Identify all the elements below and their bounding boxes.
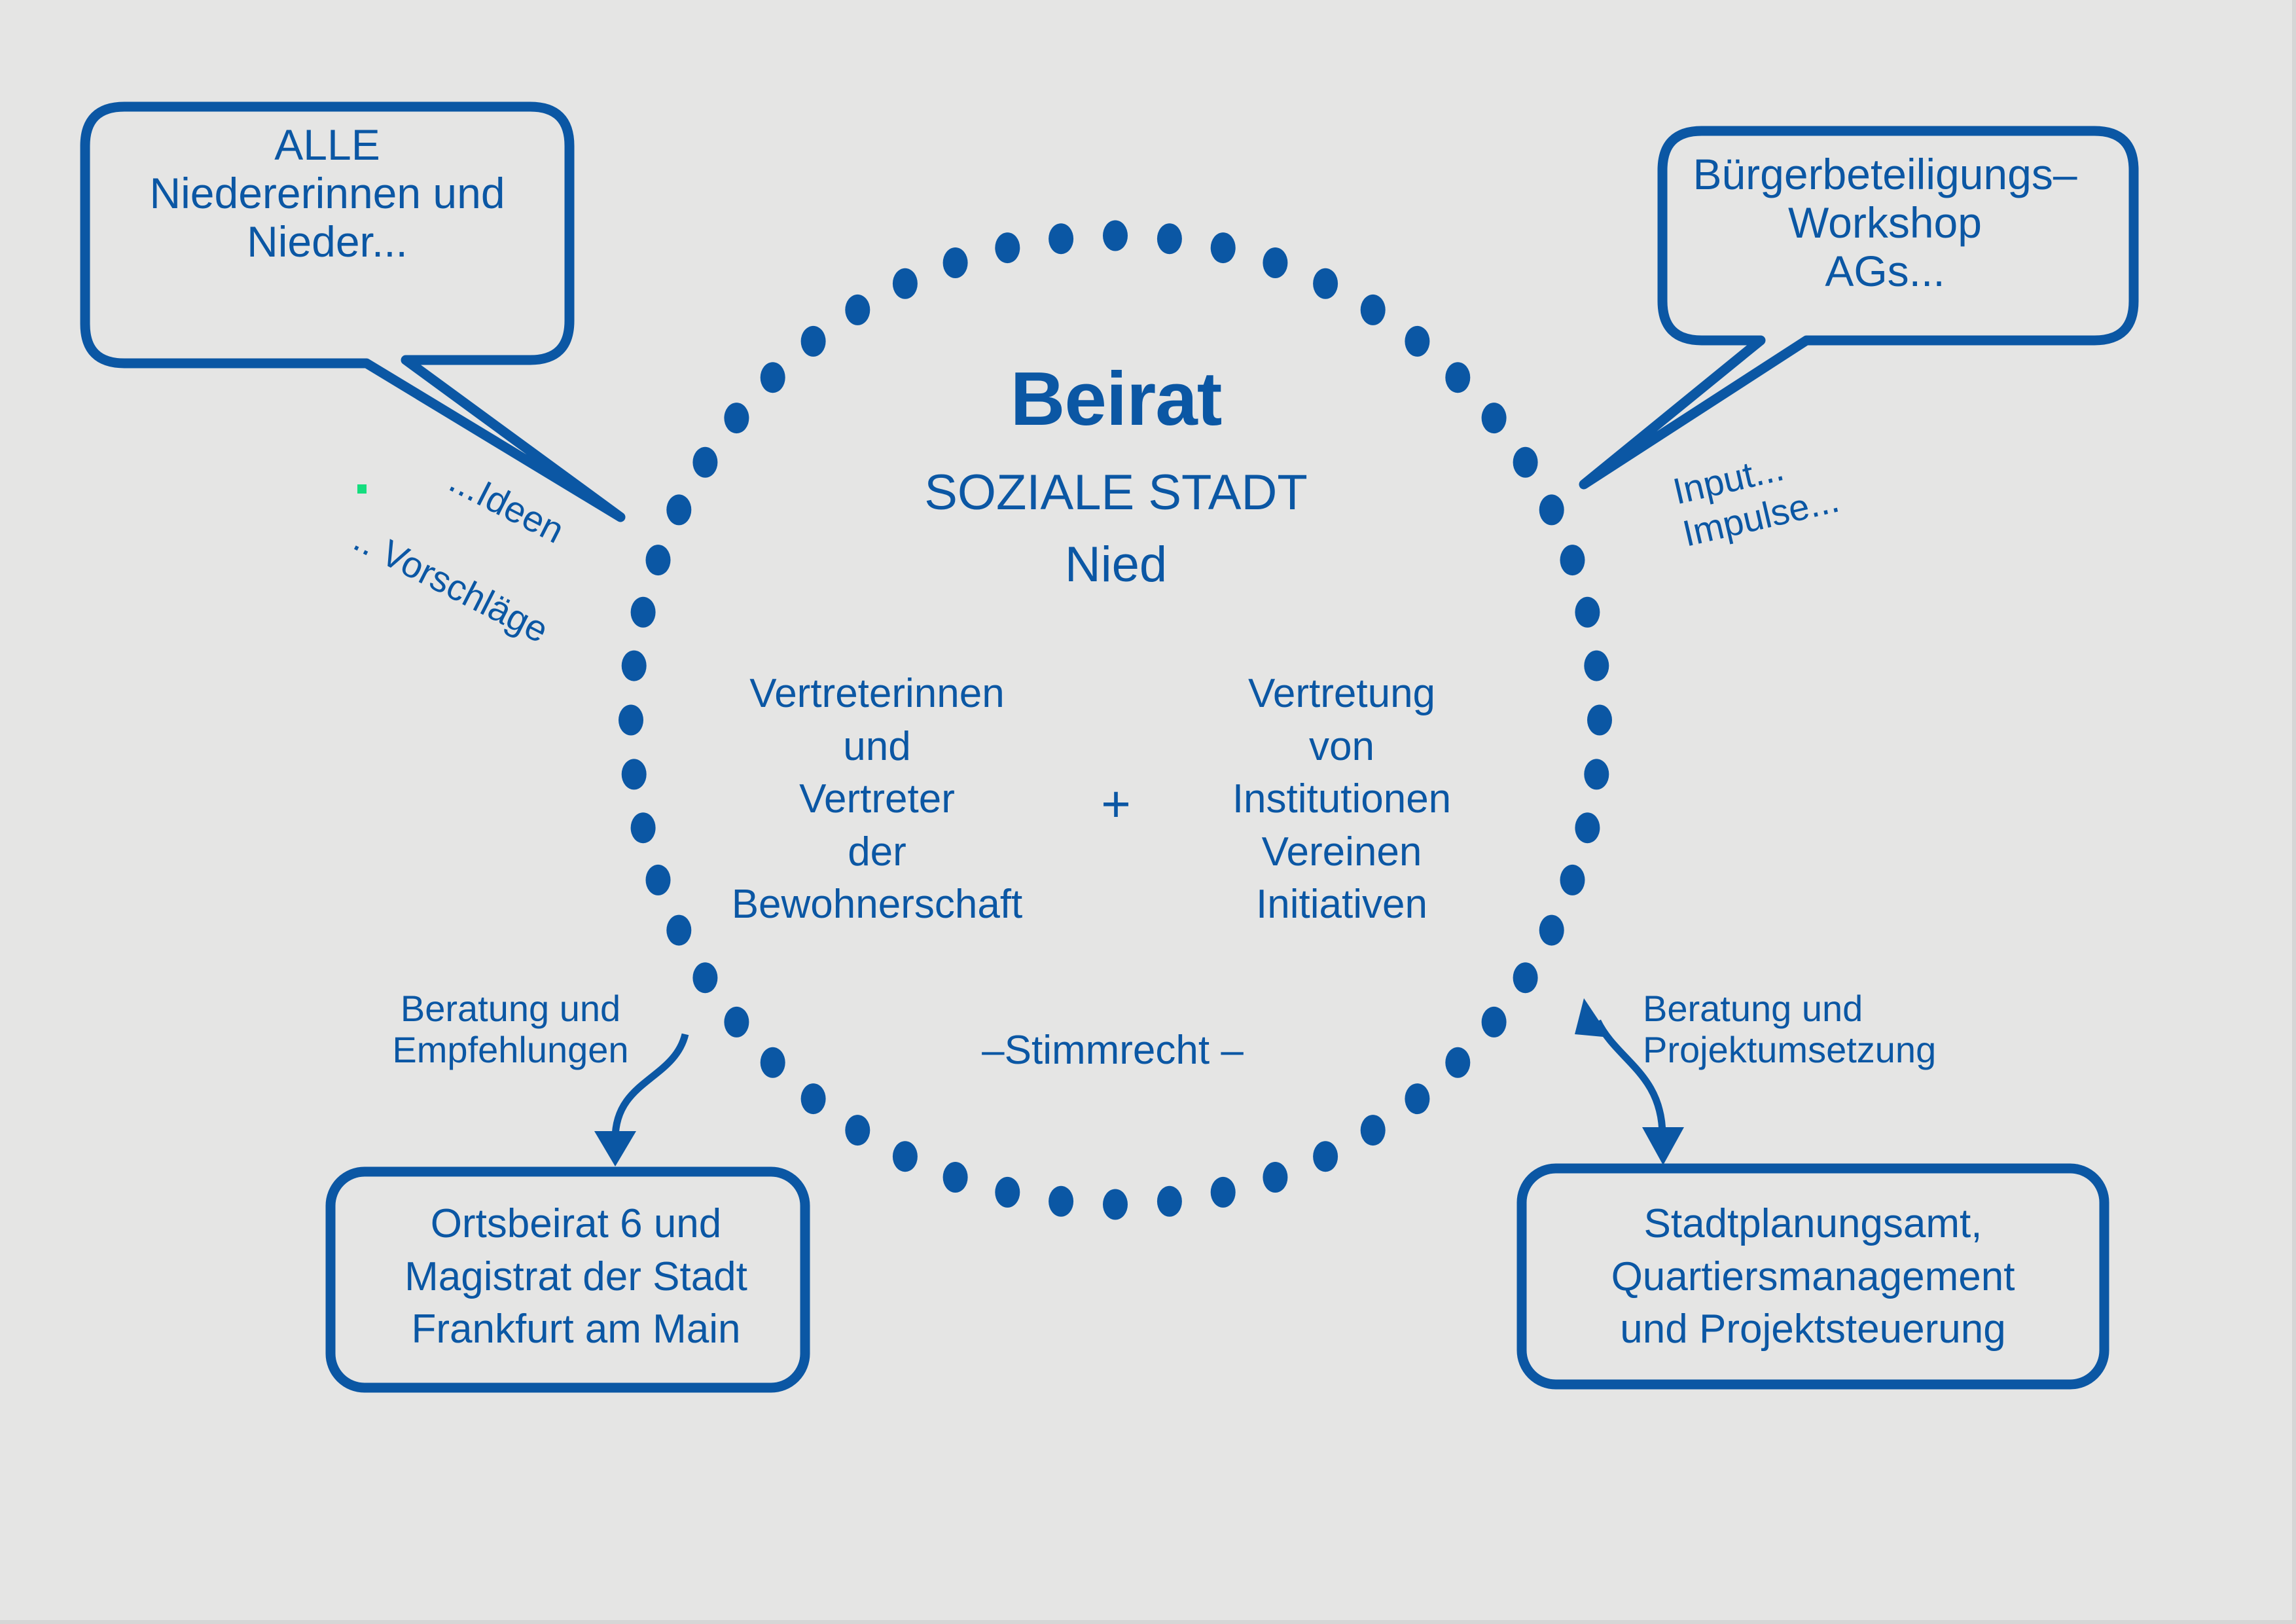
diagram-canvas: ALLE Niedererinnen und Nieder... Bürgerb…: [0, 0, 2296, 1624]
arrow-right-head-down-icon: [1642, 1127, 1684, 1165]
circle-dot: [1513, 447, 1538, 478]
circle-dot: [1313, 268, 1338, 299]
circle-dot: [619, 705, 643, 736]
center-title: Beirat: [740, 357, 1492, 442]
circle-dot: [692, 447, 717, 478]
speech-bubble-right-label: Bürgerbeteiligungs– Workshop AGs...: [1656, 151, 2114, 296]
circle-dot: [1560, 545, 1585, 575]
circle-dot: [724, 1007, 749, 1038]
circle-dot: [1211, 232, 1236, 263]
circle-dot: [995, 232, 1020, 263]
circle-dot: [1539, 915, 1564, 946]
green-marker-dot: [357, 484, 367, 494]
circle-dot: [622, 651, 647, 681]
circle-dot: [1313, 1141, 1338, 1172]
circle-dot: [943, 247, 968, 278]
circle-dot: [1263, 247, 1287, 278]
center-footer-stimmrecht: –Stimmrecht –: [916, 1028, 1309, 1073]
circle-dot: [1405, 326, 1429, 357]
circle-dot: [631, 597, 656, 628]
speech-bubble-left-label: ALLE Niedererinnen und Nieder...: [92, 121, 563, 266]
circle-dot: [1445, 1047, 1470, 1078]
circle-dot: [1103, 221, 1128, 251]
circle-dot: [631, 812, 656, 843]
arrow-left-head-icon: [594, 1131, 636, 1166]
circle-dot: [845, 295, 870, 325]
circle-dot: [1405, 1083, 1429, 1114]
center-subtitle-line2: Nied: [740, 537, 1492, 592]
circle-dot: [893, 1141, 918, 1172]
circle-dot: [801, 326, 826, 357]
center-column-left: Vertreterinnen und Vertreter der Bewohne…: [707, 668, 1047, 931]
circle-dot: [995, 1177, 1020, 1208]
circle-dot: [893, 268, 918, 299]
annotation-beratung-empfehlungen: Beratung und Empfehlungen: [340, 988, 681, 1070]
circle-dot: [845, 1115, 870, 1146]
circle-dot: [1575, 597, 1600, 628]
center-subtitle-line1: SOZIALE STADT: [740, 465, 1492, 520]
circle-dot: [666, 494, 691, 525]
circle-dot: [1575, 812, 1600, 843]
circle-dot: [1513, 962, 1538, 993]
center-plus-symbol: +: [1060, 776, 1172, 833]
circle-dot: [1263, 1162, 1287, 1193]
box-bottom-right-label: Stadtplanungsamt, Quartiersmanagement un…: [1525, 1198, 2101, 1356]
circle-dot: [761, 1047, 785, 1078]
circle-dot: [1587, 705, 1612, 736]
circle-dot: [1157, 223, 1182, 254]
center-column-right: Vertretung von Institutionen Vereinen In…: [1178, 668, 1505, 931]
circle-dot: [1482, 1007, 1507, 1038]
circle-dot: [1361, 295, 1386, 325]
circle-dot: [1539, 494, 1564, 525]
circle-dot: [1103, 1189, 1128, 1220]
circle-dot: [1560, 865, 1585, 895]
circle-dot: [1584, 759, 1609, 789]
circle-dot: [1049, 223, 1073, 254]
circle-dot: [1361, 1115, 1386, 1146]
circle-dot: [666, 915, 691, 946]
circle-dot: [801, 1083, 826, 1114]
circle-dot: [1157, 1186, 1182, 1217]
circle-dot: [622, 759, 647, 789]
circle-dot: [1049, 1186, 1073, 1217]
box-bottom-left-label: Ortsbeirat 6 und Magistrat der Stadt Fra…: [347, 1198, 805, 1356]
annotation-beratung-projektumsetzung: Beratung und Projektumsetzung: [1643, 988, 1983, 1070]
circle-dot: [1211, 1177, 1236, 1208]
arrow-right-head-up-icon: [1575, 998, 1610, 1038]
circle-dot: [943, 1162, 968, 1193]
circle-dot: [1584, 651, 1609, 681]
circle-dot: [646, 545, 671, 575]
circle-dot: [692, 962, 717, 993]
circle-dot: [646, 865, 671, 895]
